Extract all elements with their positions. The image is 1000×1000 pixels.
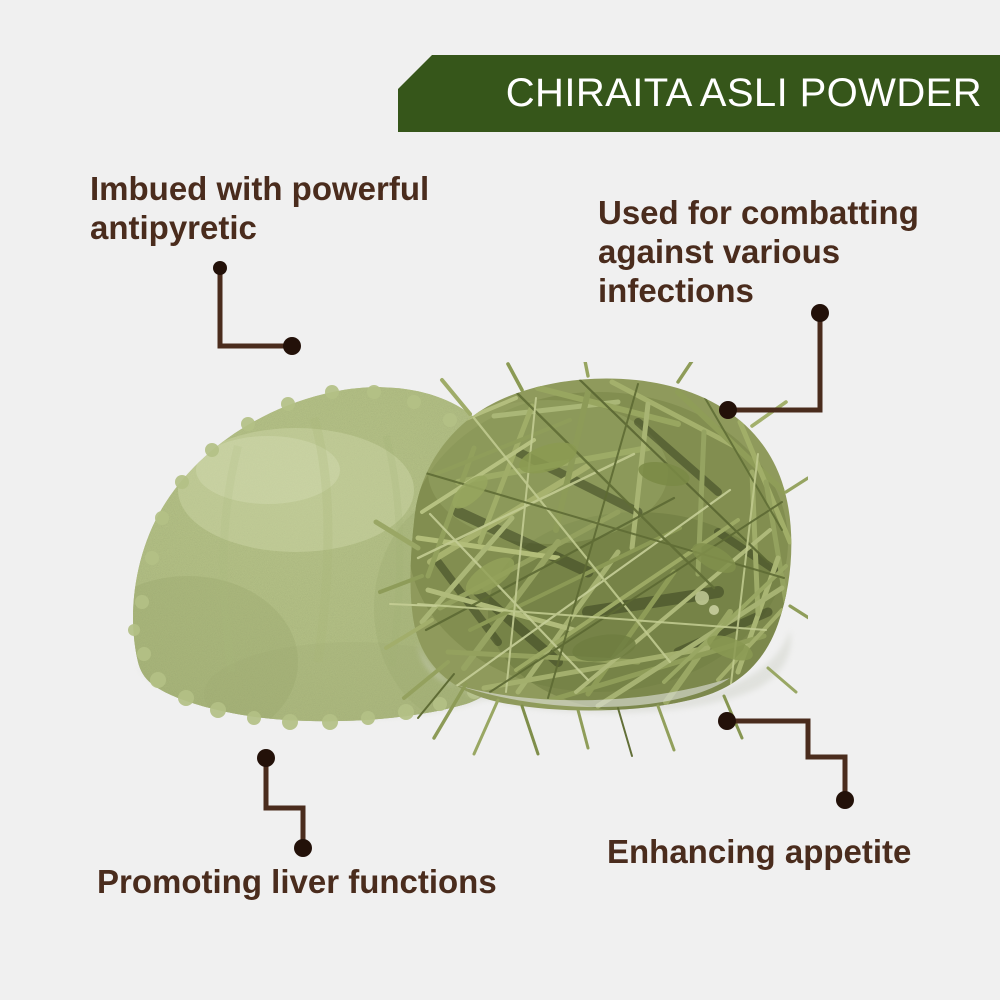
connector-antipyretic	[220, 268, 290, 346]
callout-appetite: Enhancing appetite	[607, 833, 1000, 872]
connector-liver	[266, 760, 303, 846]
callout-antipyretic: Imbued with powerful antipyretic	[90, 170, 520, 248]
product-image	[118, 362, 808, 762]
infographic-canvas: CHIRAITA ASLI POWDER Imbued with powerfu…	[0, 0, 1000, 1000]
connector-dot-antipyretic-start	[213, 261, 227, 275]
page-title: CHIRAITA ASLI POWDER	[506, 73, 982, 115]
connector-dot-antipyretic-end	[283, 337, 301, 355]
header-banner: CHIRAITA ASLI POWDER	[398, 55, 1000, 132]
callout-liver: Promoting liver functions	[97, 863, 597, 902]
connector-dot-liver-end	[294, 839, 312, 857]
callout-infections: Used for combatting against various infe…	[598, 194, 988, 311]
connector-dot-appetite-end	[836, 791, 854, 809]
